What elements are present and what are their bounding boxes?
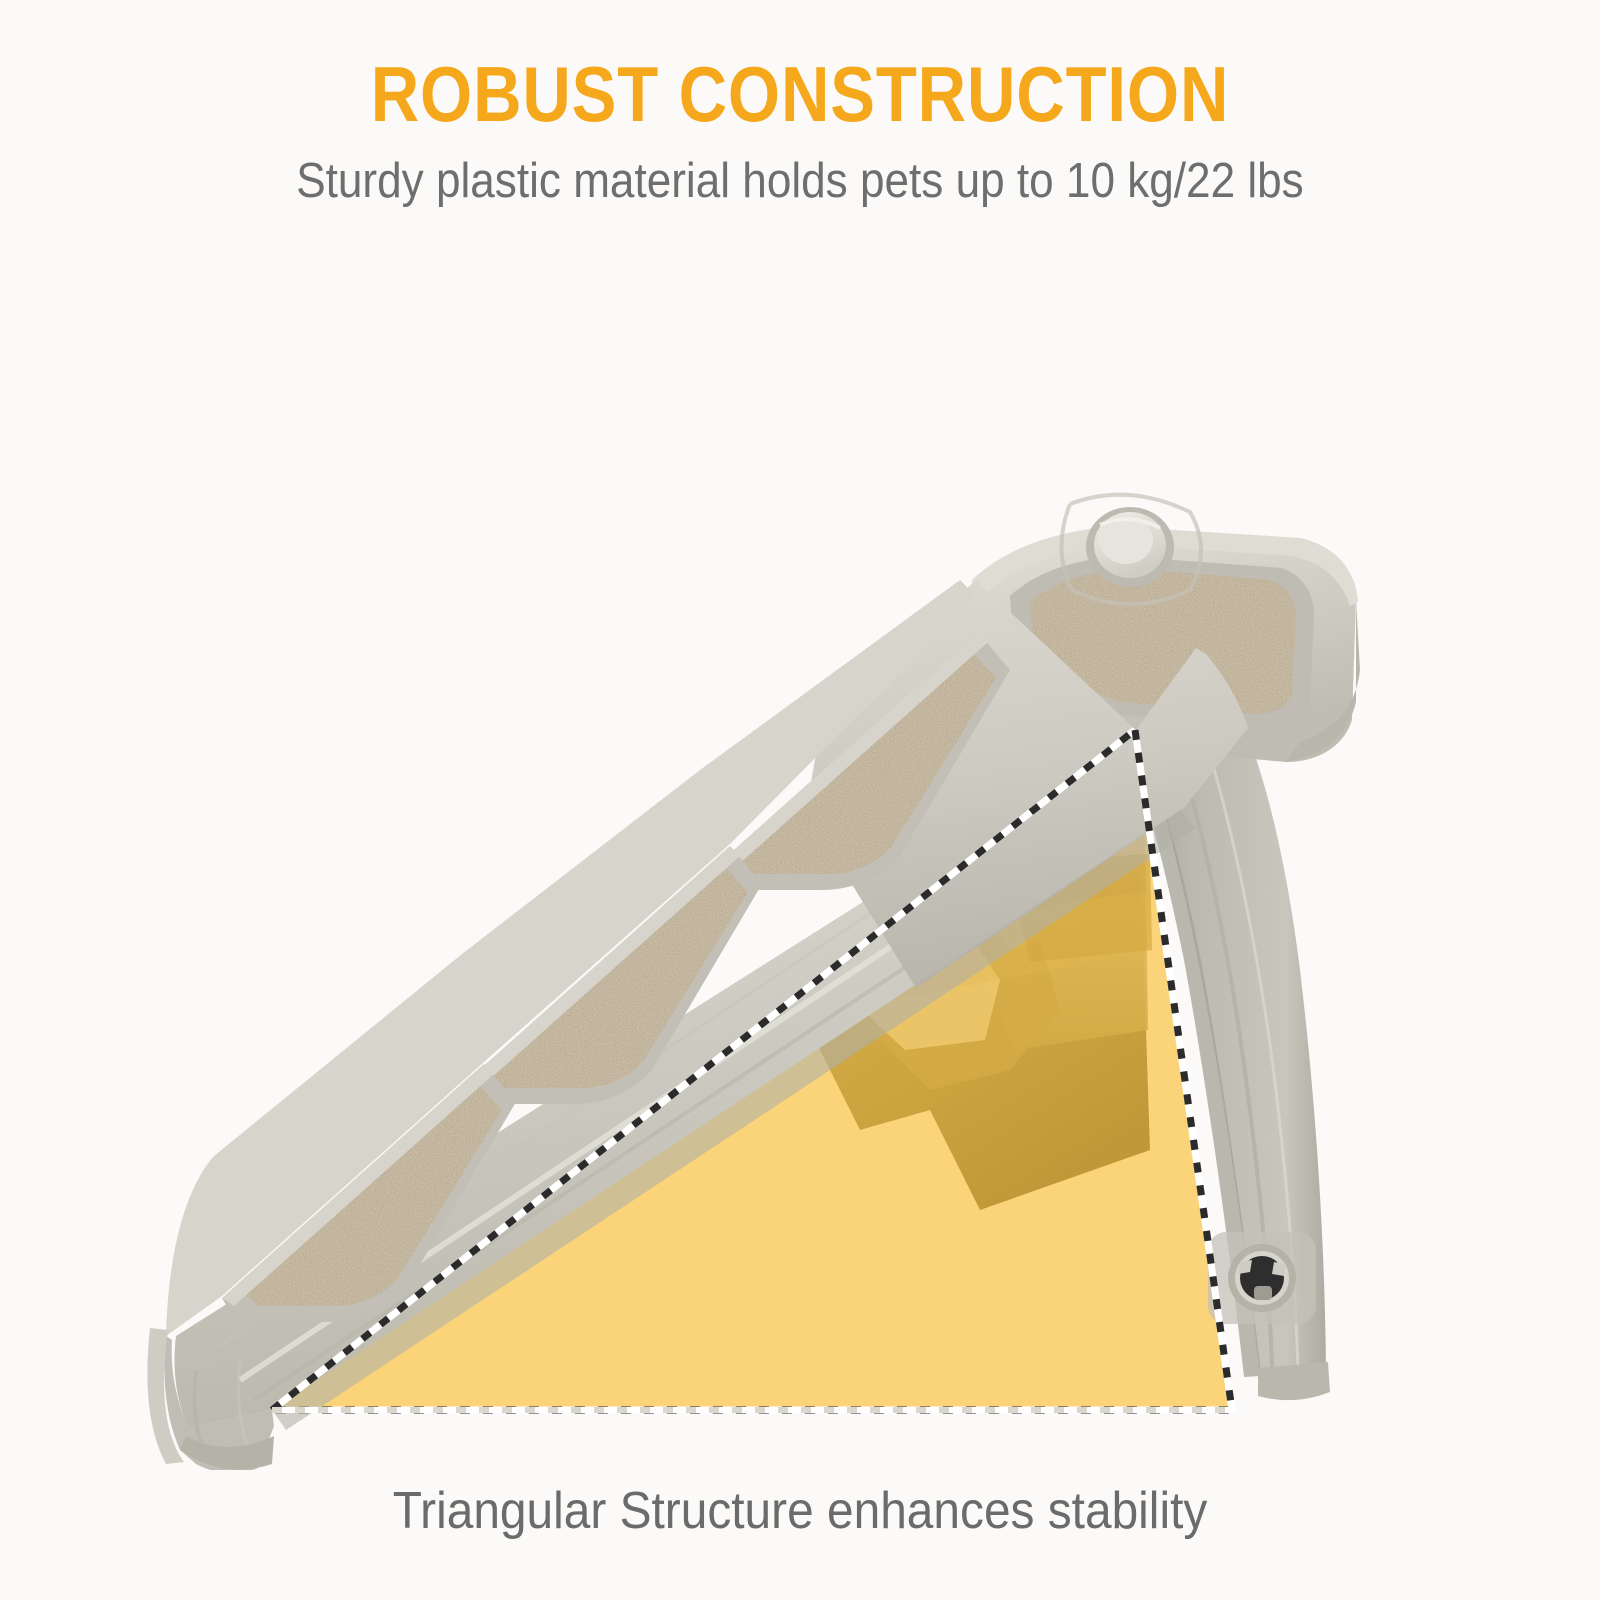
page-caption: Triangular Structure enhances stability bbox=[64, 1480, 1536, 1542]
page-title: ROBUST CONSTRUCTION bbox=[112, 52, 1488, 136]
leg-foot-grommet bbox=[1208, 1232, 1316, 1324]
page-subtitle: Sturdy plastic material holds pets up to… bbox=[80, 152, 1520, 210]
product-feature-image: ROBUST CONSTRUCTION Sturdy plastic mater… bbox=[0, 0, 1600, 1600]
pivot-knob bbox=[1086, 507, 1174, 587]
product-illustration bbox=[0, 250, 1600, 1470]
